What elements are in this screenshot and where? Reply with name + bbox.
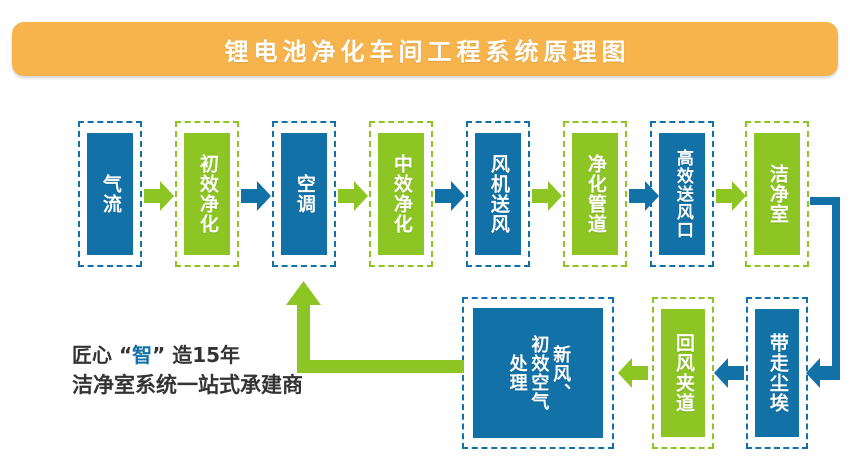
page-title: 锂电池净化车间工程系统原理图 [12, 22, 838, 76]
node-fill: 初效净化 [184, 133, 230, 255]
flow-node-hepa-air-outlet[interactable]: 高效送风口 [650, 121, 714, 267]
node-label: 带走尘埃 [767, 333, 787, 413]
node-fill: 气流 [87, 133, 133, 255]
flow-arrow-right-3 [338, 180, 368, 212]
node-label: 气流 [100, 174, 120, 214]
node-label: 净化管道 [585, 154, 605, 234]
tagline-line-2: 洁净室系统一站式承建商 [72, 370, 392, 400]
node-label-col-3: 处理 [507, 354, 526, 392]
flow-node-airflow[interactable]: 气流 [78, 121, 142, 267]
flow-arrow-right-7 [716, 180, 746, 212]
node-fill: 空调 [281, 133, 327, 255]
node-label: 中效净化 [391, 154, 411, 234]
flow-arrow-left-2 [714, 357, 744, 389]
tagline-suffix: ” 造15年 [152, 343, 240, 367]
node-fill: 新风、 初效空气 处理 [473, 308, 603, 438]
node-fill: 高效送风口 [659, 133, 705, 255]
connector-arrow-into-ac [286, 281, 321, 307]
flow-arrow-right-5 [532, 180, 562, 212]
node-fill: 净化管道 [572, 133, 618, 255]
flow-node-primary-filtration[interactable]: 初效净化 [175, 121, 239, 267]
flow-arrow-right-4 [435, 180, 465, 212]
flow-arrow-right-6 [629, 180, 659, 212]
flow-node-medium-filtration[interactable]: 中效净化 [369, 121, 433, 267]
connector-arrow-into-dust [806, 357, 840, 389]
flow-node-fresh-air-pretreatment[interactable]: 新风、 初效空气 处理 [462, 297, 614, 449]
connector-cleanroom-vertical [832, 197, 840, 367]
node-label: 回风夹道 [673, 333, 693, 413]
flow-arrow-left-1 [618, 357, 648, 389]
flow-node-clean-room[interactable]: 洁净室 [745, 121, 809, 267]
node-label: 风机送风 [488, 154, 508, 234]
flow-node-return-air-plenum[interactable]: 回风夹道 [652, 297, 714, 449]
flow-node-air-conditioning[interactable]: 空调 [272, 121, 336, 267]
node-fill: 中效净化 [378, 133, 424, 255]
node-fill: 洁净室 [754, 133, 800, 255]
tagline-prefix: 匠心 “ [72, 343, 132, 367]
flow-arrow-right-1 [144, 180, 174, 212]
flow-node-fan-supply-air[interactable]: 风机送风 [466, 121, 530, 267]
node-fill: 回风夹道 [661, 309, 705, 437]
node-label: 空调 [294, 174, 314, 214]
diagram-canvas: 锂电池净化车间工程系统原理图 气流 初效净化 空调 中效净化 风机送风 [0, 0, 850, 459]
flow-node-dust-removal[interactable]: 带走尘埃 [746, 297, 808, 449]
tagline-accent-word: 智 [132, 343, 152, 367]
title-banner: 锂电池净化车间工程系统原理图 [12, 22, 838, 76]
node-label: 洁净室 [767, 164, 787, 224]
flow-arrow-right-2 [241, 180, 271, 212]
node-label-columns: 新风、 初效空气 处理 [507, 335, 569, 411]
tagline: 匠心 “智” 造15年 洁净室系统一站式承建商 [72, 340, 392, 400]
node-label: 高效送风口 [673, 149, 691, 239]
node-label: 初效净化 [197, 154, 217, 234]
flow-node-clean-duct[interactable]: 净化管道 [563, 121, 627, 267]
node-fill: 风机送风 [475, 133, 521, 255]
node-fill: 带走尘埃 [755, 309, 799, 437]
node-label-col-1: 新风、 [550, 345, 569, 402]
tagline-line-1: 匠心 “智” 造15年 [72, 340, 392, 370]
node-label-col-2: 初效空气 [529, 335, 548, 411]
